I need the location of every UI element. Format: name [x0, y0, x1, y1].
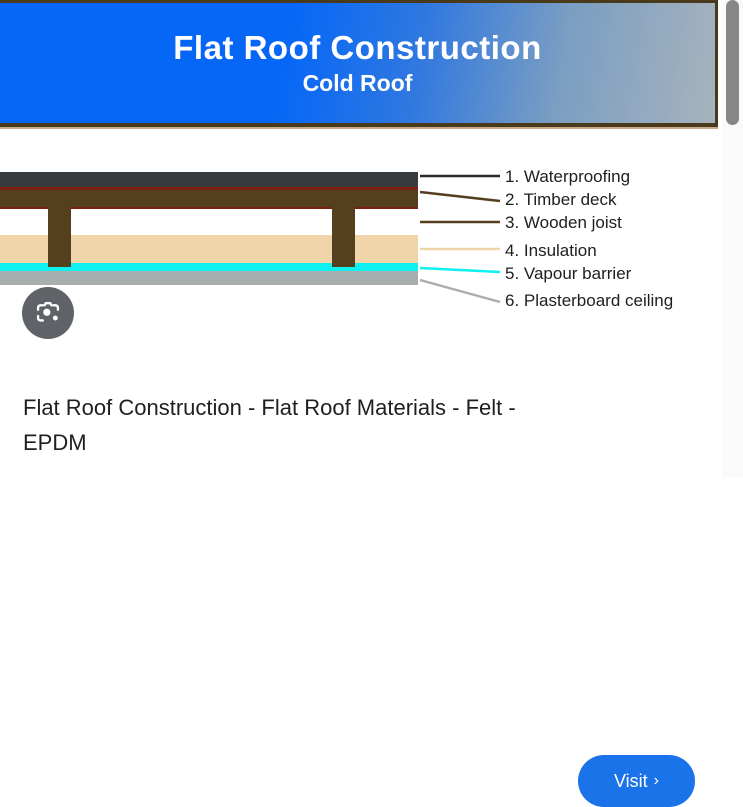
diagram-banner: Flat Roof Construction Cold Roof [0, 0, 718, 127]
banner-title: Flat Roof Construction [173, 29, 541, 67]
page-scrollbar[interactable] [722, 0, 743, 477]
wooden-joist-right [332, 207, 355, 267]
layer-timber-deck [0, 190, 418, 207]
caption-row: Flat Roof Construction - Flat Roof Mater… [0, 366, 722, 477]
media-preview-area[interactable]: Flat Roof Construction Cold Roof [0, 0, 722, 366]
layer-waterproofing [0, 172, 418, 187]
diagram-legend: 1. Waterproofing 2. Timber deck 3. Woode… [418, 150, 718, 320]
legend-item-timber-deck: 2. Timber deck [505, 191, 617, 208]
visit-button[interactable]: Visit › [578, 755, 695, 807]
roof-cross-section-diagram [0, 150, 418, 285]
google-lens-button[interactable] [22, 287, 74, 339]
banner-subtitle: Cold Roof [303, 70, 413, 97]
scrollbar-thumb[interactable] [726, 0, 739, 125]
legend-item-waterproofing: 1. Waterproofing [505, 168, 630, 185]
banner-text-group: Flat Roof Construction Cold Roof [0, 3, 715, 123]
layer-plasterboard-ceiling [0, 271, 418, 285]
legend-item-wooden-joist: 3. Wooden joist [505, 214, 622, 231]
image-result-card[interactable]: Flat Roof Construction Cold Roof [0, 0, 722, 477]
chevron-right-icon: › [654, 773, 659, 789]
legend-item-insulation: 4. Insulation [505, 242, 597, 259]
result-title[interactable]: Flat Roof Construction - Flat Roof Mater… [23, 390, 543, 460]
google-lens-icon [34, 299, 62, 327]
legend-item-plasterboard-ceiling: 6. Plasterboard ceiling [505, 292, 673, 309]
legend-item-vapour-barrier: 5. Vapour barrier [505, 265, 631, 282]
visit-button-label: Visit [614, 771, 648, 792]
wooden-joist-left [48, 207, 71, 267]
banner-underline [0, 127, 718, 129]
legend-leader-lines [418, 150, 508, 320]
